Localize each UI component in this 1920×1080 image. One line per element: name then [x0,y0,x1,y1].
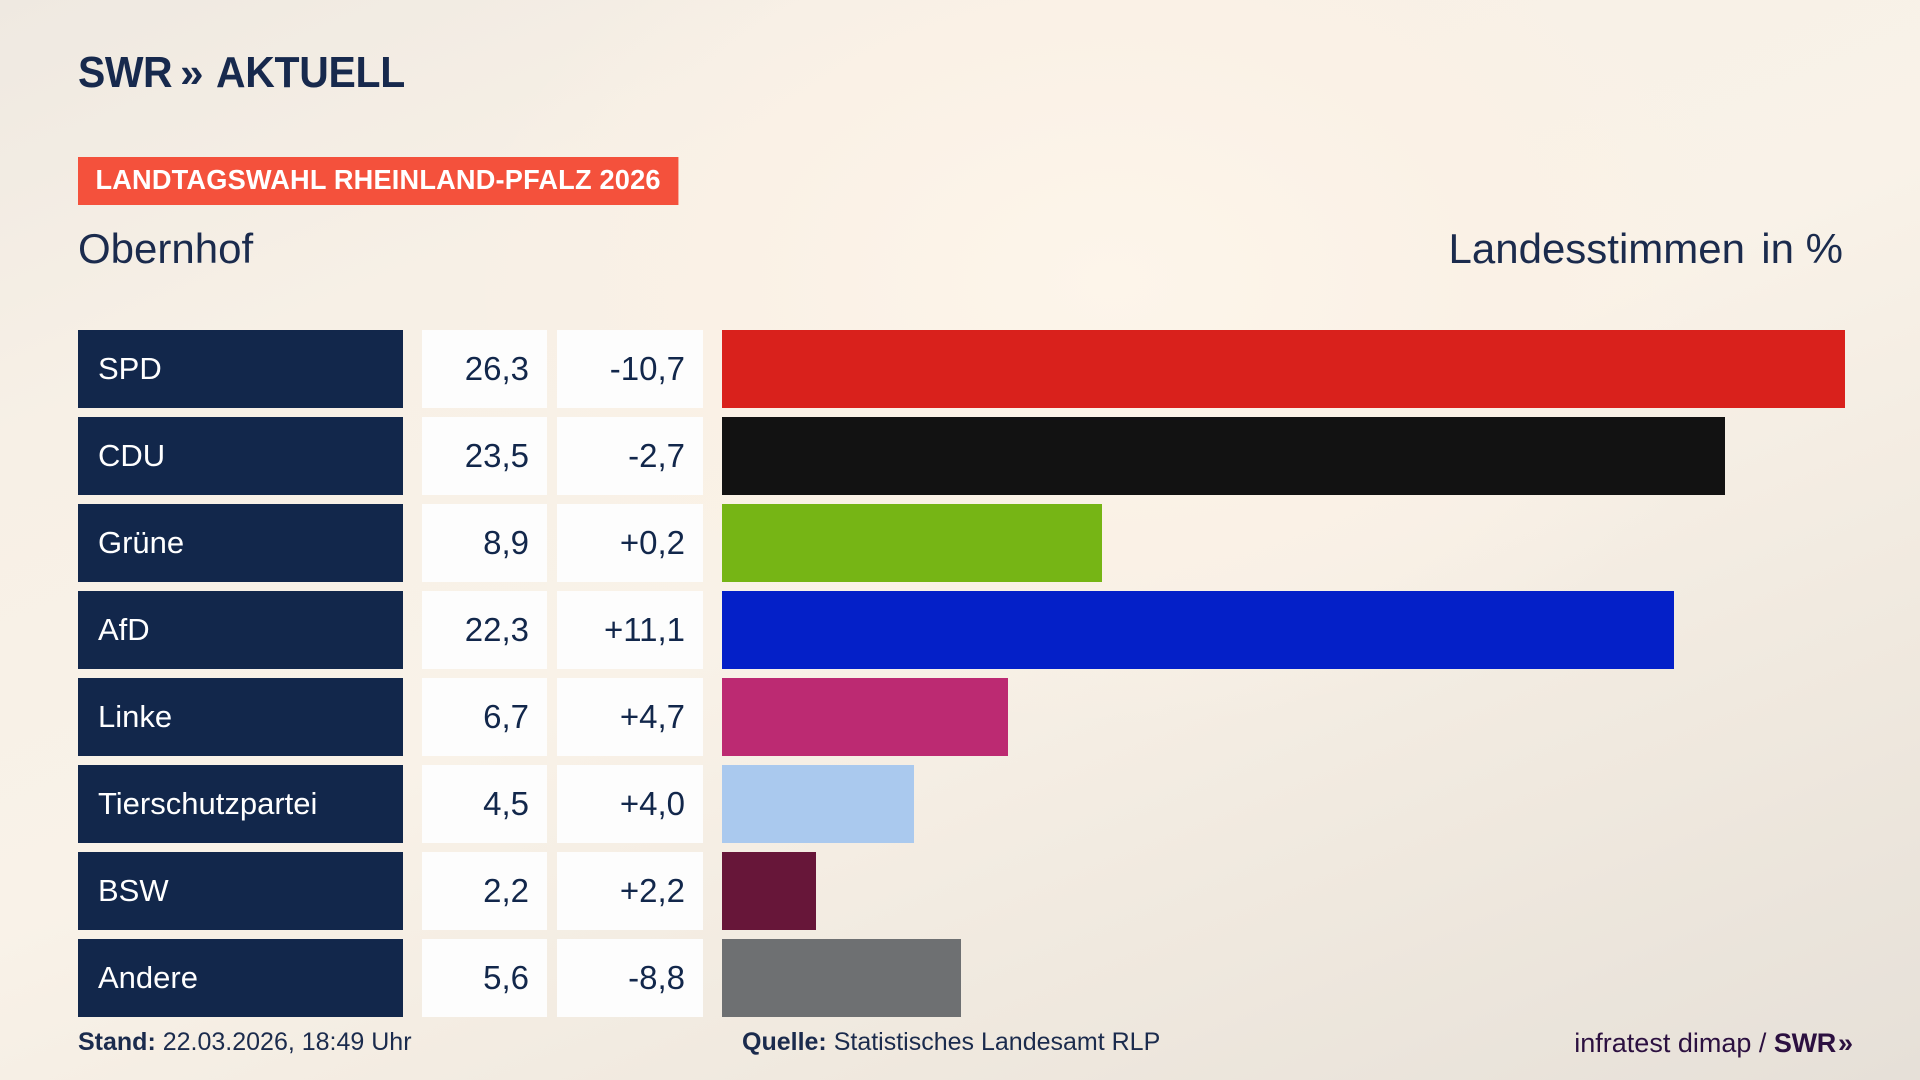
aktuell-wordmark: AKTUELL [216,48,405,98]
vote-share-value: 2,2 [422,852,547,930]
party-label: Linke [78,678,403,756]
vote-share-value: 4,5 [422,765,547,843]
party-label: AfD [78,591,403,669]
result-bar [722,678,1008,756]
vote-share-change: +4,7 [557,678,703,756]
unit-label: in % [1761,225,1843,273]
brand-header: SWR » AKTUELL [78,48,419,98]
quelle-label: Quelle: [742,1028,827,1056]
footer: Stand: 22.03.2026, 18:49 Uhr Quelle: Sta… [78,1028,1845,1068]
timestamp: Stand: 22.03.2026, 18:49 Uhr [78,1028,412,1057]
vote-share-change: -2,7 [557,417,703,495]
table-row: CDU23,5-2,7 [78,417,1845,495]
vote-share-value: 22,3 [422,591,547,669]
result-bar [722,330,1845,408]
stand-label: Stand: [78,1028,156,1056]
swr-aktuell-logo: SWR » AKTUELL [78,48,419,98]
result-bar [722,591,1674,669]
table-row: Tierschutzpartei4,5+4,0 [78,765,1845,843]
result-bar [722,765,914,843]
vote-share-change: +2,2 [557,852,703,930]
stand-value: 22.03.2026, 18:49 Uhr [163,1028,412,1056]
result-bar [722,852,816,930]
vote-share-change: +4,0 [557,765,703,843]
vote-share-value: 6,7 [422,678,547,756]
bar-track [722,417,1845,495]
result-bar [722,939,961,1017]
vote-type-label: Landesstimmen [1449,225,1745,273]
result-bar [722,504,1102,582]
credit-swr-wordmark: SWR [1774,1028,1836,1058]
vote-share-value: 23,5 [422,417,547,495]
double-chevron-icon: » [180,49,193,97]
vote-share-value: 26,3 [422,330,547,408]
party-label: Andere [78,939,403,1017]
table-row: SPD26,3-10,7 [78,330,1845,408]
vote-share-value: 5,6 [422,939,547,1017]
credit-agency: infratest dimap / [1574,1028,1774,1058]
party-label: BSW [78,852,403,930]
bar-track [722,852,1845,930]
bar-track [722,765,1845,843]
table-row: Grüne8,9+0,2 [78,504,1845,582]
bar-track [722,591,1845,669]
bar-track [722,330,1845,408]
table-row: BSW2,2+2,2 [78,852,1845,930]
bar-track [722,504,1845,582]
table-row: Andere5,6-8,8 [78,939,1845,1017]
party-label: SPD [78,330,403,408]
quelle-value: Statistisches Landesamt RLP [834,1028,1161,1056]
vote-share-change: +11,1 [557,591,703,669]
party-label: Tierschutzpartei [78,765,403,843]
source: Quelle: Statistisches Landesamt RLP [742,1028,1160,1057]
bar-track [722,678,1845,756]
vote-share-change: +0,2 [557,504,703,582]
credit: infratest dimap / SWR» [1574,1028,1845,1059]
results-bar-chart: SPD26,3-10,7CDU23,5-2,7Grüne8,9+0,2AfD22… [78,330,1845,1026]
election-title-banner: LANDTAGSWAHL RHEINLAND-PFALZ 2026 [78,157,678,205]
vote-share-value: 8,9 [422,504,547,582]
bar-track [722,939,1845,1017]
credit-double-chevron-icon: » [1838,1028,1845,1058]
result-bar [722,417,1725,495]
vote-share-change: -8,8 [557,939,703,1017]
table-row: AfD22,3+11,1 [78,591,1845,669]
region-name: Obernhof [78,225,253,273]
party-label: Grüne [78,504,403,582]
swr-wordmark: SWR [78,48,172,98]
table-row: Linke6,7+4,7 [78,678,1845,756]
party-label: CDU [78,417,403,495]
subheader: Obernhof Landesstimmen in % [78,225,1843,285]
vote-share-change: -10,7 [557,330,703,408]
